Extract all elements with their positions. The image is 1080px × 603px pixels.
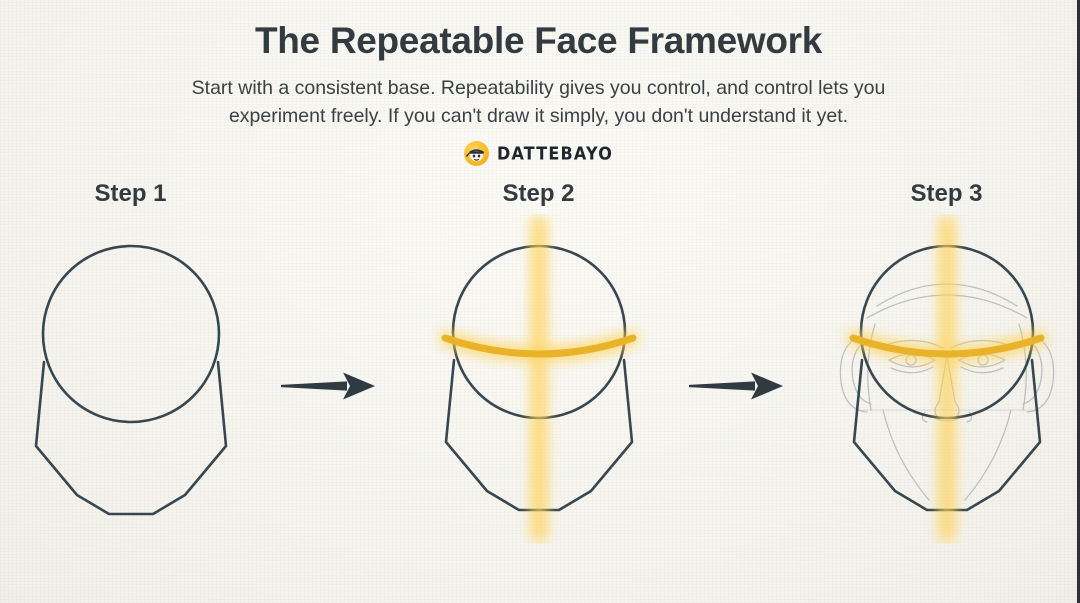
step-1-illustration <box>0 214 281 544</box>
steps-row: Step 1 Step 2 <box>0 180 1077 580</box>
step-card-2: Step 2 <box>389 180 689 544</box>
step-2-illustration <box>389 214 689 544</box>
brand-lockup: DATTEBAYO <box>0 141 1077 166</box>
step-3-illustration <box>797 214 1080 544</box>
step-label-2: Step 2 <box>389 180 689 208</box>
arrow-right-icon <box>689 220 797 550</box>
brand-name: DATTEBAYO <box>497 143 613 164</box>
step-label-1: Step 1 <box>0 180 281 208</box>
slide-canvas: The Repeatable Face Framework Start with… <box>0 0 1080 603</box>
page-title: The Repeatable Face Framework <box>0 22 1077 61</box>
ninja-head-icon <box>464 141 489 166</box>
step-label-3: Step 3 <box>797 180 1080 208</box>
slide-header: The Repeatable Face Framework Start with… <box>0 22 1077 166</box>
step-card-3: Step 3 <box>797 180 1080 544</box>
step-card-1: Step 1 <box>0 180 281 544</box>
arrow-right-icon <box>281 220 389 550</box>
slide-subtitle: Start with a consistent base. Repeatabil… <box>159 75 919 130</box>
